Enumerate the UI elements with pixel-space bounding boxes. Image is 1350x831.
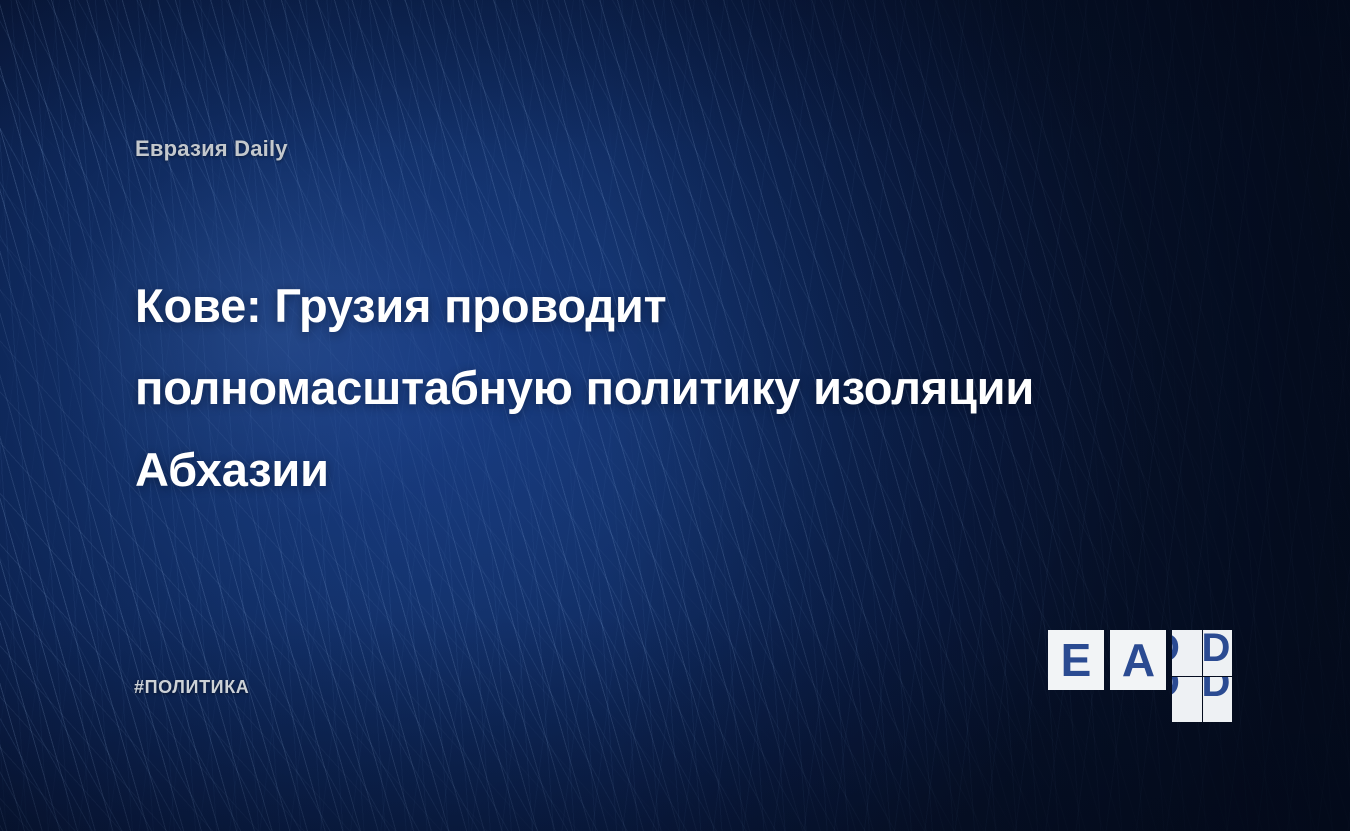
headline-line-1: Кове: Грузия проводит (135, 265, 1205, 347)
news-card: Евразия Daily Кове: Грузия проводит полн… (0, 0, 1350, 831)
eadaily-logo: E A D D D D (1048, 630, 1232, 722)
card-content: Евразия Daily Кове: Грузия проводит полн… (0, 0, 1350, 831)
logo-d-glyph-1: D (1172, 630, 1180, 668)
logo-tile-d-grid: D D D D (1172, 630, 1232, 722)
logo-d-quadrant-bottom-right: D (1203, 677, 1233, 723)
logo-d-quadrant-top-right: D (1203, 630, 1233, 676)
logo-d-glyph-4: D (1203, 677, 1231, 703)
logo-d-quadrant-top-left: D (1172, 630, 1202, 676)
logo-d-quadrant-bottom-left: D (1172, 677, 1202, 723)
logo-tile-a: A (1110, 630, 1166, 690)
brand-name: Евразия Daily (135, 136, 288, 162)
logo-tile-e: E (1048, 630, 1104, 690)
logo-d-glyph-2: D (1203, 630, 1231, 668)
category-tag-politics[interactable]: #ПОЛИТИКА (134, 677, 249, 698)
headline-line-3: Абхазии (135, 429, 1205, 511)
page-title: Кове: Грузия проводит полномасштабную по… (135, 265, 1205, 511)
headline-line-2: полномасштабную политику изоляции (135, 347, 1205, 429)
logo-d-glyph-3: D (1172, 677, 1180, 703)
